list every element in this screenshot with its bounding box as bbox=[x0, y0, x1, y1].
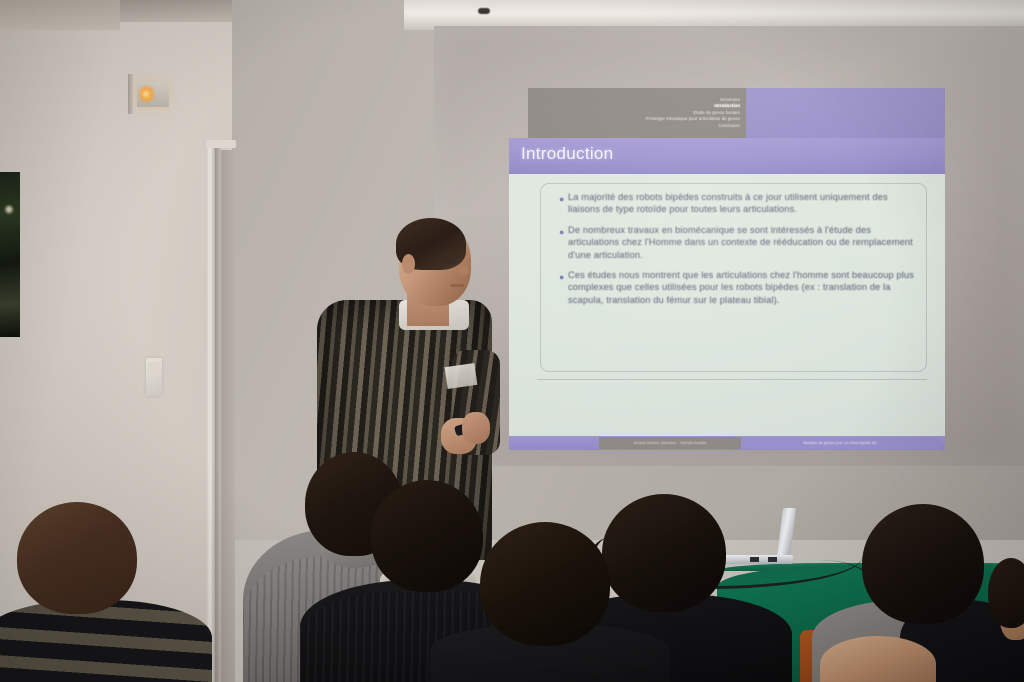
door-jamb-outer bbox=[206, 140, 215, 682]
slide-body: ● La majorité des robots bipèdes constru… bbox=[509, 174, 945, 436]
list-item: ● De nombreux travaux en biomécanique se… bbox=[559, 224, 919, 261]
slide-footer-author: Arnaud Hamon, Directeur : Yannick Aousti… bbox=[599, 437, 741, 449]
projected-slide: Introduction ● La majorité des robots bi… bbox=[509, 138, 945, 450]
presenter-mouth bbox=[450, 284, 464, 287]
audience-head bbox=[17, 502, 137, 614]
window-glint bbox=[5, 205, 13, 214]
list-item: ● La majorité des robots bipèdes constru… bbox=[559, 191, 919, 216]
slide-divider bbox=[537, 379, 927, 380]
door-jamb-cap bbox=[206, 140, 236, 148]
presenter-hand bbox=[462, 412, 490, 444]
window bbox=[0, 172, 20, 337]
wall-left-upper-return bbox=[0, 0, 120, 30]
bullet-dot-icon: ● bbox=[559, 273, 568, 306]
light-switch-rocker[interactable] bbox=[148, 362, 160, 376]
slide-title: Introduction bbox=[521, 144, 613, 164]
audience-head bbox=[480, 522, 610, 646]
presentation-room-photo: Sommaire Introduction Etude de genou hum… bbox=[0, 0, 1024, 682]
housing-fixing-icon bbox=[478, 8, 490, 14]
slide-nav-menu: Sommaire Introduction Etude de genou hum… bbox=[528, 88, 746, 138]
presenter-ear bbox=[402, 254, 415, 274]
list-item: ● Ces études nous montrent que les artic… bbox=[559, 269, 919, 306]
slide-footer-subject: Modèles de genou pour un robot bipède 3D bbox=[741, 437, 939, 449]
lamp-bracket bbox=[128, 74, 133, 114]
door-panel bbox=[221, 150, 235, 682]
presenter-nose bbox=[459, 266, 469, 276]
bullet-dot-icon: ● bbox=[559, 228, 568, 261]
presenter-name-badge bbox=[445, 363, 478, 389]
slide-bullet-list: ● La majorité des robots bipèdes constru… bbox=[559, 191, 919, 314]
bullet-text: Ces études nous montrent que les articul… bbox=[568, 269, 919, 306]
audience-head bbox=[988, 558, 1024, 628]
presenter-eye bbox=[446, 259, 456, 264]
audience-body bbox=[0, 600, 212, 682]
slide-footer-subject-text: Modèles de genou pour un robot bipède 3D bbox=[803, 441, 876, 445]
lamp-glow-icon bbox=[140, 86, 155, 102]
slide-footer-author-text: Arnaud Hamon, Directeur : Yannick Aousti… bbox=[633, 441, 706, 445]
audience-head bbox=[371, 480, 483, 592]
nav-item-4: Conclusion bbox=[718, 123, 740, 129]
bullet-text: De nombreux travaux en biomécanique se s… bbox=[568, 224, 919, 261]
bullet-dot-icon: ● bbox=[559, 195, 568, 216]
audience-head bbox=[862, 504, 984, 624]
slide-title-bar-extension bbox=[746, 88, 945, 138]
bullet-text: La majorité des robots bipèdes construit… bbox=[568, 191, 919, 216]
